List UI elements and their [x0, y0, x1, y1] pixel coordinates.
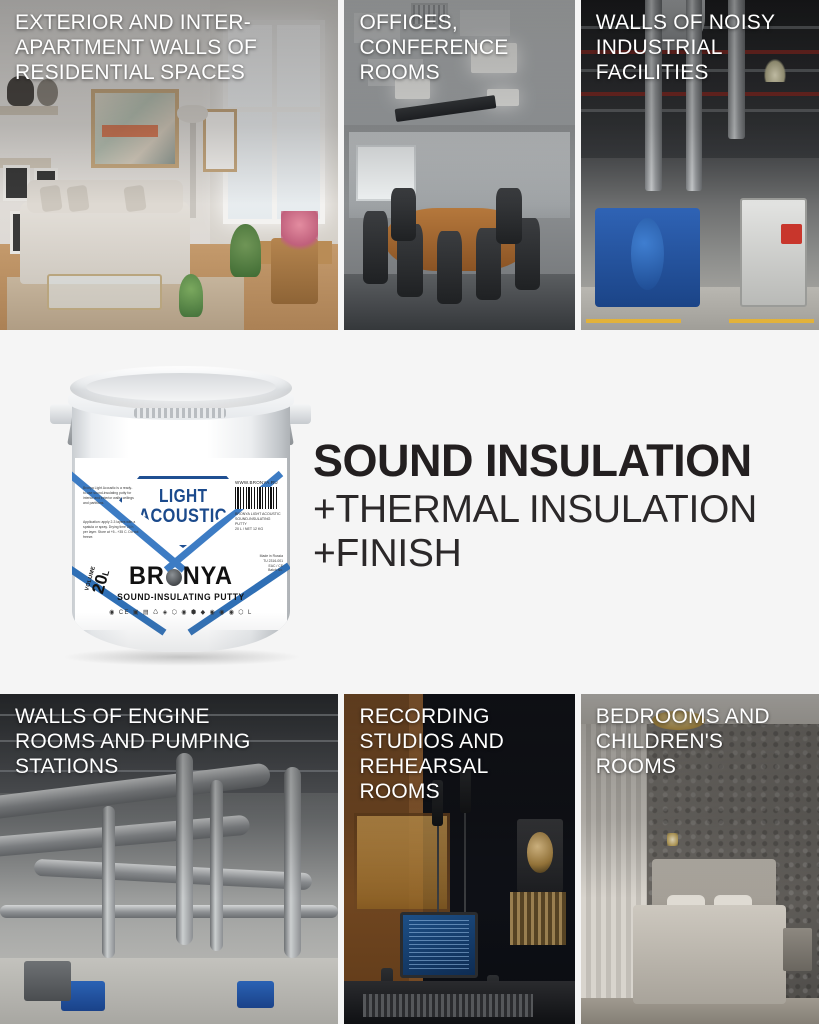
panel-caption: EXTERIOR AND INTER- APARTMENT WALLS OF R… — [15, 10, 328, 85]
top-photo-row: EXTERIOR AND INTER- APARTMENT WALLS OF R… — [0, 0, 819, 330]
product-label: LIGHT ACOUSTIC Bronya Light Acoustic is … — [75, 458, 287, 630]
barcode-subtext: BRONYA LIGHT ACOUSTIC SOUND-INSULATING P… — [235, 512, 281, 531]
hero-band: LIGHT ACOUSTIC Bronya Light Acoustic is … — [0, 330, 819, 694]
brand-name-after: NYA — [183, 562, 233, 590]
certification-icons: ◉ CE ▣ ▤ ♺ ◈ ⬡ ◉ ⬢ ◆ ◉ ◉ ◉ ⬡ L — [86, 608, 277, 616]
panel-caption: RECORDING STUDIOS AND REHEARSAL ROOMS — [359, 704, 564, 804]
bucket-body: LIGHT ACOUSTIC Bronya Light Acoustic is … — [72, 396, 290, 652]
label-fineprint-left-2: Application: apply 2-3 layers with a spa… — [83, 520, 139, 540]
panel-caption: OFFICES, CONFERENCE ROOMS — [359, 10, 564, 85]
brand-emblem-icon — [166, 569, 182, 586]
panel-recording-studios[interactable]: RECORDING STUDIOS AND REHEARSAL ROOMS — [344, 694, 574, 1024]
brand-name: BRNYA — [81, 564, 280, 589]
panel-caption: WALLS OF ENGINE ROOMS AND PUMPING STATIO… — [15, 704, 328, 779]
panel-engine-rooms[interactable]: WALLS OF ENGINE ROOMS AND PUMPING STATIO… — [0, 694, 338, 1024]
poster-root: EXTERIOR AND INTER- APARTMENT WALLS OF R… — [0, 0, 819, 1024]
label-fineprint-left: Bronya Light Acoustic is a ready-to-use … — [83, 486, 135, 506]
brand-name-before: BR — [129, 562, 165, 590]
bottom-photo-row: WALLS OF ENGINE ROOMS AND PUMPING STATIO… — [0, 694, 819, 1024]
headline-second: +THERMAL INSULATION — [313, 488, 813, 532]
headline-main: SOUND INSULATION — [313, 438, 813, 484]
brand-tagline: SOUND-INSULATING PUTTY — [86, 592, 277, 603]
panel-residential-walls[interactable]: EXTERIOR AND INTER- APARTMENT WALLS OF R… — [0, 0, 338, 330]
label-barcode: WWW.BRONYA.RU BRONYA LIGHT ACOUSTIC SOUN… — [235, 480, 281, 531]
hero-headline: SOUND INSULATION +THERMAL INSULATION +FI… — [313, 438, 813, 575]
panel-bedrooms-children[interactable]: BEDROOMS AND CHILDREN'S ROOMS — [581, 694, 819, 1024]
barcode-caption: WWW.BRONYA.RU — [235, 480, 281, 485]
headline-third: +FINISH — [313, 532, 813, 576]
barcode-bars — [235, 487, 279, 509]
panel-caption: BEDROOMS AND CHILDREN'S ROOMS — [596, 704, 809, 779]
panel-industrial-facilities[interactable]: WALLS OF NOISY INDUSTRIAL FACILITIES — [581, 0, 819, 330]
label-brand-block: BRNYA SOUND-INSULATING PUTTY ◉ CE ▣ ▤ ♺ … — [75, 564, 287, 616]
bucket-lid-grip — [134, 408, 226, 418]
bucket-lid-inner — [86, 373, 276, 401]
panel-caption: WALLS OF NOISY INDUSTRIAL FACILITIES — [596, 10, 809, 85]
panel-offices-conference[interactable]: OFFICES, CONFERENCE ROOMS — [344, 0, 574, 330]
label-product-line1: LIGHT — [159, 487, 208, 505]
product-bucket[interactable]: LIGHT ACOUSTIC Bronya Light Acoustic is … — [48, 360, 313, 672]
